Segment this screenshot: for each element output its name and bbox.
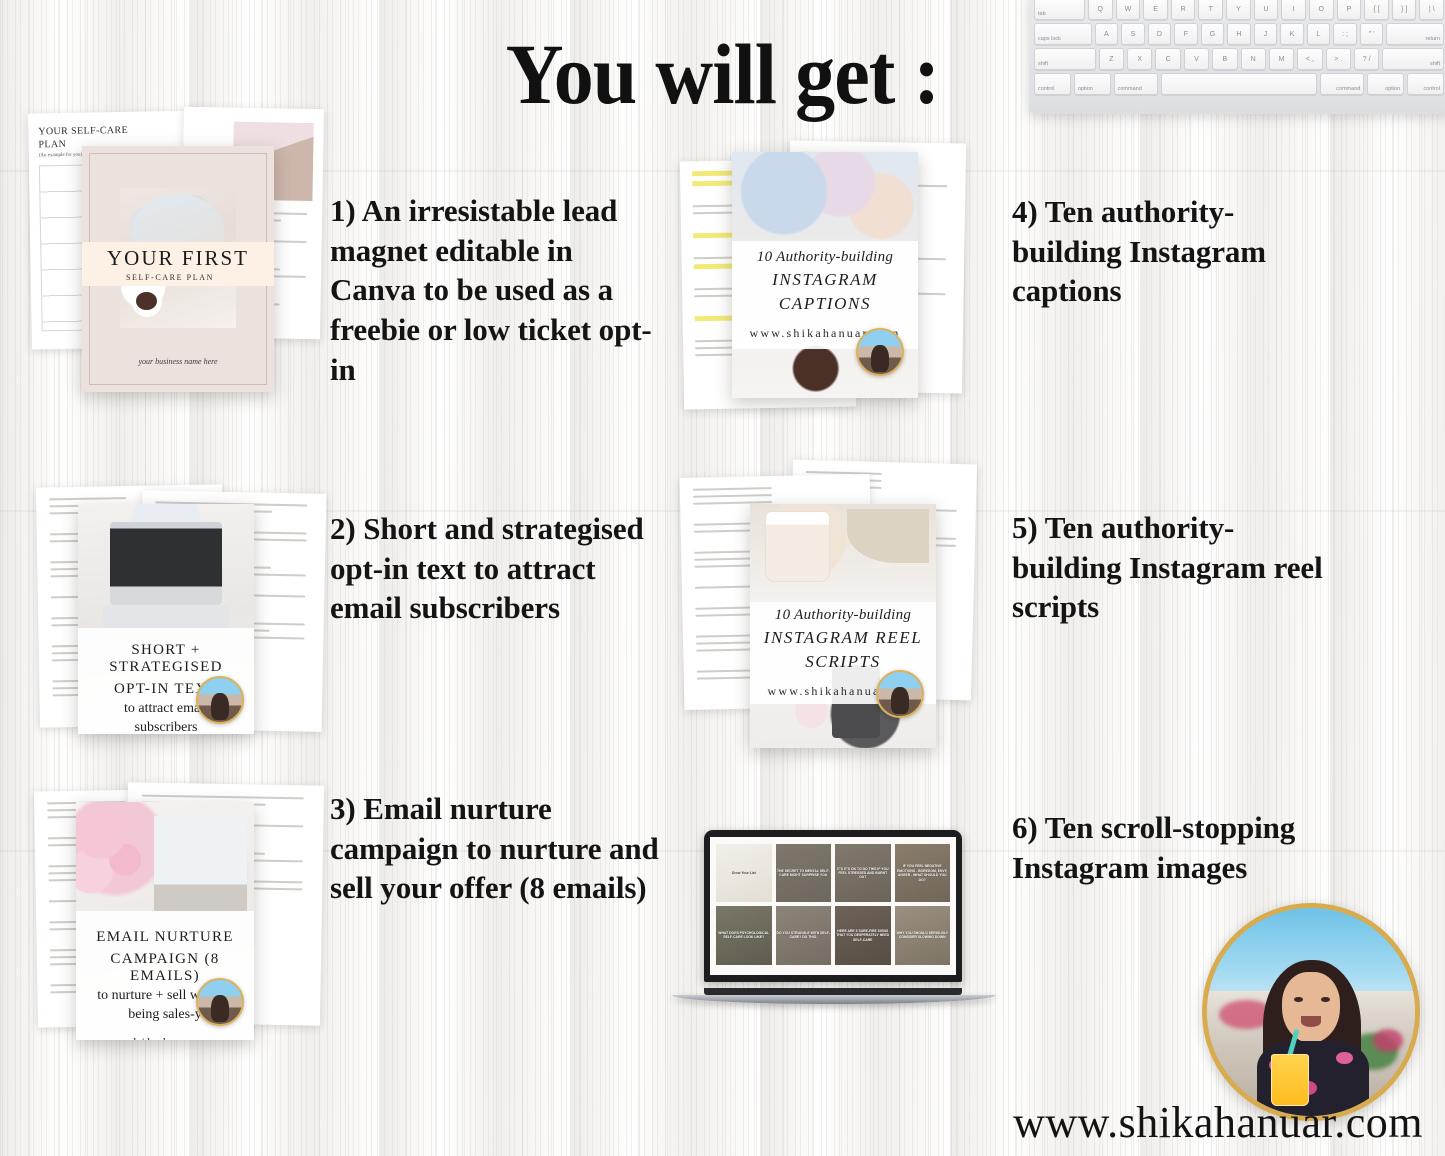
key-y: Y <box>1226 0 1251 20</box>
item-5-description: 5) Ten authority-building Instagram reel… <box>1012 508 1342 627</box>
reels-cover-line2: INSTAGRAM REEL <box>764 628 923 648</box>
brand-avatar-small <box>196 978 244 1026</box>
keyboard-row-1: tab Q W E R T Y U I O P { [ } ] | \ <box>1034 0 1444 20</box>
mockup-ig-captions: 10 Authority-building INSTAGRAM CAPTIONS… <box>682 142 964 410</box>
optin-cover-line4: subscribers <box>135 720 198 734</box>
key-r: R <box>1171 0 1196 20</box>
brand-avatar-photo <box>1202 903 1420 1121</box>
key-o: O <box>1309 0 1334 20</box>
item-2-description: 2) Short and strategised opt-in text to … <box>330 509 660 628</box>
ig-tile: DO YOU STRUGGLE WITH SELF-CARE? DO THIS.… <box>776 906 832 964</box>
item-4-description: 4) Ten authority-building Instagram capt… <box>1012 192 1342 311</box>
key-w: W <box>1116 0 1141 20</box>
nurture-cover-line1: EMAIL NURTURE <box>96 929 234 946</box>
item-3-description: 3) Email nurture campaign to nurture and… <box>330 789 675 908</box>
ig-tile: HERE ARE 5 SURE-FIRE SIGNS THAT YOU DESP… <box>835 906 891 964</box>
nurture-cover: EMAIL NURTURE CAMPAIGN (8 EMAILS) to nur… <box>76 802 254 1040</box>
laptop-base <box>672 995 996 1004</box>
key-tab: tab <box>1034 0 1085 20</box>
captions-cover-line3: CAPTIONS <box>779 294 871 314</box>
reels-cover: 10 Authority-building INSTAGRAM REEL SCR… <box>750 504 936 748</box>
mockup-lead-magnet: YOUR SELF-CARE PLAN (An example for you)… <box>22 104 322 404</box>
item-1-description: 1) An irresistable lead magnet editable … <box>330 191 665 389</box>
captions-cover-line1: 10 Authority-building <box>757 249 893 266</box>
mockup-ig-reels: 10 Authority-building INSTAGRAM REEL SCR… <box>682 462 974 754</box>
optin-cover-line1: SHORT + STRATEGISED <box>78 642 254 676</box>
reels-cover-line3: SCRIPTS <box>805 652 880 672</box>
lead-magnet-cover-title: YOUR FIRST <box>107 246 249 271</box>
page-title: You will get : <box>51 24 1395 124</box>
mockup-email-nurture: EMAIL NURTURE CAMPAIGN (8 EMAILS) to nur… <box>34 778 324 1044</box>
avatar-flowers-right <box>1373 1029 1402 1052</box>
key-i: I <box>1281 0 1306 20</box>
ig-tile: WHY YOU SHOULD SERIOUSLY CONSIDER SLOWIN… <box>895 906 951 964</box>
ig-tile: Grow Your List 1 <box>716 844 772 902</box>
brand-avatar-small <box>876 670 924 718</box>
mockup-optin-text: SHORT + STRATEGISED OPT-IN TEXT to attra… <box>34 482 324 744</box>
lead-magnet-cover-footer: your business name here <box>82 357 274 366</box>
ig-image-grid: Grow Your List 1 THE SECRET TO MENTAL SE… <box>710 837 956 972</box>
laptop-hinge <box>704 988 962 995</box>
lead-magnet-cover-subtitle: SELF-CARE PLAN <box>126 273 214 282</box>
key-u: U <box>1254 0 1279 20</box>
key-bracket-right: } ] <box>1392 0 1417 20</box>
brand-avatar-small <box>856 328 904 376</box>
key-p: P <box>1337 0 1362 20</box>
ig-tile: IF YOU FEEL NEGATIVE EMOTIONS - BOREDOM,… <box>895 844 951 902</box>
brand-avatar-small <box>196 676 244 724</box>
key-bracket-left: { [ <box>1364 0 1389 20</box>
captions-cover-line2: INSTAGRAM <box>772 270 878 290</box>
key-t: T <box>1198 0 1223 20</box>
key-backslash: | \ <box>1419 0 1444 20</box>
captions-cover: 10 Authority-building INSTAGRAM CAPTIONS… <box>732 152 918 398</box>
lead-magnet-cover: YOUR FIRST SELF-CARE PLAN your business … <box>82 146 274 392</box>
key-return: return <box>1386 23 1444 45</box>
avatar-face <box>1282 972 1340 1043</box>
lead-magnet-back-sub: (An example for you) <box>39 153 83 159</box>
optin-cover: SHORT + STRATEGISED OPT-IN TEXT to attra… <box>78 504 254 734</box>
ig-tile: WHAT DOES PSYCHOLOGICAL SELF-CARE LOOK L… <box>716 906 772 964</box>
laptop-lid: Grow Your List 1 THE SECRET TO MENTAL SE… <box>704 830 962 982</box>
key-q: Q <box>1088 0 1113 20</box>
nurture-cover-url: www.shikahanuar.com <box>90 1035 241 1040</box>
footer-website-url: www.shikahanuar.com <box>1013 1097 1423 1148</box>
ig-tile: IT'S IT'S OK TO DO THIS IF YOU FEEL STRE… <box>835 844 891 902</box>
nurture-cover-line4: being sales-y <box>128 1007 201 1023</box>
key-control-right: control <box>1407 73 1444 95</box>
laptop-screen: Grow Your List 1 THE SECRET TO MENTAL SE… <box>710 837 956 975</box>
avatar-smile <box>1301 1016 1322 1026</box>
mockup-ig-images-laptop: Grow Your List 1 THE SECRET TO MENTAL SE… <box>672 830 996 1010</box>
key-e: E <box>1143 0 1168 20</box>
ig-tile: THE SECRET TO MENTAL SELF-CARE MIGHT SUR… <box>776 844 832 902</box>
reels-cover-line1: 10 Authority-building <box>775 607 911 624</box>
item-6-description: 6) Ten scroll-stopping Instagram images <box>1012 808 1342 887</box>
avatar-dress-flower <box>1336 1052 1353 1064</box>
